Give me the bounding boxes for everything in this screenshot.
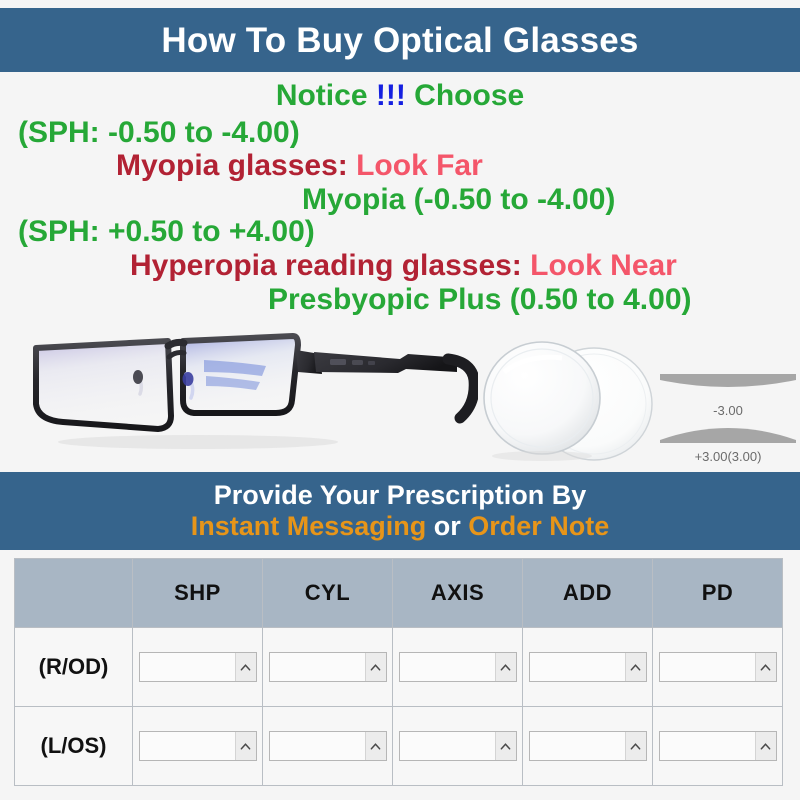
cell-right-pd	[653, 628, 783, 707]
cell-left-shp	[133, 707, 263, 786]
table-header-shp: SHP	[133, 559, 263, 628]
chevron-up-icon[interactable]	[365, 653, 386, 681]
chevron-up-icon[interactable]	[235, 732, 256, 760]
chevron-up-icon[interactable]	[625, 653, 646, 681]
myopia-line: Myopia glasses: Look Far	[0, 151, 800, 182]
spinner-left-cyl[interactable]	[269, 731, 387, 761]
spinner-left-pd[interactable]	[659, 731, 777, 761]
sph-myopia-range-line: (SPH: -0.50 to -4.00)	[0, 118, 800, 149]
eyeglasses-image	[8, 332, 478, 452]
or-text: or	[426, 511, 468, 541]
spinner-right-pd[interactable]	[659, 652, 777, 682]
input-left-cyl[interactable]	[270, 732, 365, 760]
prescription-table: SHP CYL AXIS ADD PD (R/OD)	[14, 558, 783, 786]
cell-left-axis	[393, 707, 523, 786]
row-label-left-eye: (L/OS)	[15, 707, 133, 786]
chevron-up-icon[interactable]	[755, 653, 776, 681]
product-image-area: -3.00 +3.00(3.00)	[0, 330, 800, 475]
hyperopia-label: Hyperopia reading glasses:	[130, 249, 522, 282]
sph-hyperopia-range: (SPH: +0.50 to +4.00)	[18, 215, 315, 248]
table-row: (R/OD)	[15, 628, 783, 707]
plus-lens-curve-icon	[660, 418, 796, 444]
input-right-axis[interactable]	[400, 653, 495, 681]
myopia-action: Look Far	[356, 149, 483, 182]
infographic-page: How To Buy Optical Glasses Notice !!! Ch…	[0, 0, 800, 800]
spinner-right-shp[interactable]	[139, 652, 257, 682]
choose-word: Choose	[414, 79, 524, 112]
spinner-left-add[interactable]	[529, 731, 647, 761]
cell-right-axis	[393, 628, 523, 707]
input-left-shp[interactable]	[140, 732, 235, 760]
table-header-add: ADD	[523, 559, 653, 628]
spinner-right-cyl[interactable]	[269, 652, 387, 682]
input-right-cyl[interactable]	[270, 653, 365, 681]
presbyopic-range: Presbyopic Plus (0.50 to 4.00)	[268, 283, 692, 316]
input-left-axis[interactable]	[400, 732, 495, 760]
spinner-left-shp[interactable]	[139, 731, 257, 761]
minus-power-label: -3.00	[660, 403, 796, 418]
lens-power-key: -3.00 +3.00(3.00)	[660, 372, 796, 464]
notice-line: Notice !!! Choose	[0, 81, 800, 112]
prescription-banner: Provide Your Prescription By Instant Mes…	[0, 472, 800, 550]
cell-left-add	[523, 707, 653, 786]
order-note-text: Order Note	[468, 511, 609, 541]
notice-text-block: Notice !!! Choose (SPH: -0.50 to -4.00) …	[0, 76, 800, 315]
table-header-cyl: CYL	[263, 559, 393, 628]
table-row: (L/OS)	[15, 707, 783, 786]
cell-right-cyl	[263, 628, 393, 707]
spinner-right-axis[interactable]	[399, 652, 517, 682]
header-banner: How To Buy Optical Glasses	[0, 8, 800, 72]
prescription-table-wrapper: SHP CYL AXIS ADD PD (R/OD)	[14, 558, 782, 786]
table-header-pd: PD	[653, 559, 783, 628]
input-right-pd[interactable]	[660, 653, 755, 681]
prescription-banner-line2: Instant Messaging or Order Note	[191, 512, 610, 541]
hyperopia-line: Hyperopia reading glasses: Look Near	[0, 251, 800, 282]
myopia-range: Myopia (-0.50 to -4.00)	[302, 183, 615, 216]
chevron-up-icon[interactable]	[625, 732, 646, 760]
cell-right-shp	[133, 628, 263, 707]
chevron-up-icon[interactable]	[495, 732, 516, 760]
row-label-right-eye: (R/OD)	[15, 628, 133, 707]
cell-left-cyl	[263, 707, 393, 786]
presbyopic-line: Presbyopic Plus (0.50 to 4.00)	[0, 285, 800, 316]
table-header-blank	[15, 559, 133, 628]
myopia-range-line: Myopia (-0.50 to -4.00)	[0, 185, 800, 216]
input-right-shp[interactable]	[140, 653, 235, 681]
chevron-up-icon[interactable]	[365, 732, 386, 760]
spinner-right-add[interactable]	[529, 652, 647, 682]
spinner-left-axis[interactable]	[399, 731, 517, 761]
input-right-add[interactable]	[530, 653, 625, 681]
cell-right-add	[523, 628, 653, 707]
exclamation-marks: !!!	[376, 79, 406, 112]
cell-left-pd	[653, 707, 783, 786]
sph-hyperopia-range-line: (SPH: +0.50 to +4.00)	[0, 217, 800, 248]
minus-lens-curve-icon	[660, 372, 796, 398]
table-header-axis: AXIS	[393, 559, 523, 628]
instant-messaging-text: Instant Messaging	[191, 511, 427, 541]
lens-discs-image	[478, 338, 668, 466]
input-left-add[interactable]	[530, 732, 625, 760]
chevron-up-icon[interactable]	[755, 732, 776, 760]
page-title: How To Buy Optical Glasses	[161, 23, 638, 58]
sph-myopia-range: (SPH: -0.50 to -4.00)	[18, 116, 300, 149]
myopia-label: Myopia glasses:	[116, 149, 348, 182]
prescription-banner-line1: Provide Your Prescription By	[214, 481, 587, 510]
table-header-row: SHP CYL AXIS ADD PD	[15, 559, 783, 628]
plus-power-label: +3.00(3.00)	[660, 449, 796, 464]
chevron-up-icon[interactable]	[495, 653, 516, 681]
chevron-up-icon[interactable]	[235, 653, 256, 681]
notice-word: Notice	[276, 79, 368, 112]
hyperopia-action: Look Near	[530, 249, 677, 282]
input-left-pd[interactable]	[660, 732, 755, 760]
